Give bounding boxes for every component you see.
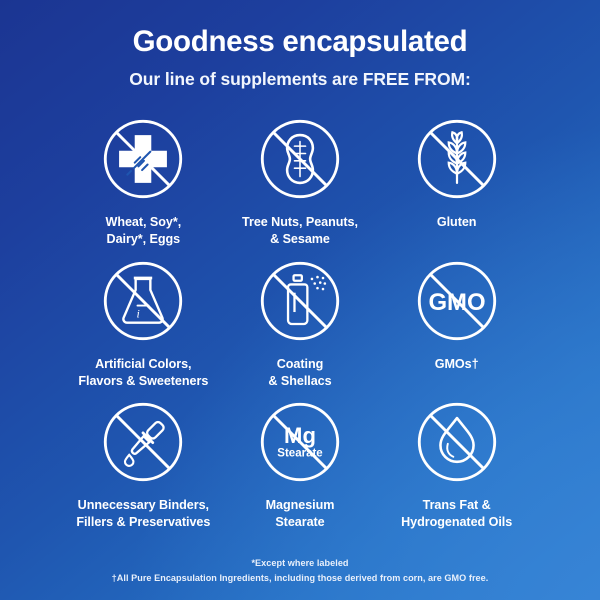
grid-item-trans-fat: Trans Fat & Hydrogenated Oils [378, 396, 535, 530]
peanut-icon [254, 113, 346, 205]
grid-item-unnecessary-binders: Unnecessary Binders, Fillers & Preservat… [65, 396, 222, 530]
grid-item-artificial-colors: i Artificial Colors, Flavors & Sweetener… [65, 255, 222, 389]
grid-item-magnesium-stearate: Mg Stearate Magnesium Stearate [222, 396, 379, 530]
grid-item-label: Unnecessary Binders, Fillers & Preservat… [76, 497, 210, 530]
dropper-icon [97, 396, 189, 488]
header: Goodness encapsulated Our line of supple… [0, 0, 600, 90]
grid-item-label: Gluten [437, 214, 477, 231]
grid-item-tree-nuts-peanuts-sesame: Tree Nuts, Peanuts, & Sesame [222, 113, 379, 247]
grid-item-gluten: Gluten [378, 113, 535, 247]
mg-icon-text: Mg [284, 423, 316, 448]
footer: *Except where labeled †All Pure Encapsul… [0, 556, 600, 586]
gmo-icon-text: GMO [428, 289, 485, 316]
grid-item-label: Magnesium Stearate [266, 497, 335, 530]
grid-item-label: Wheat, Soy*, Dairy*, Eggs [105, 214, 181, 247]
poster: Goodness encapsulated Our line of supple… [0, 0, 600, 600]
grid-item-gmos: GMO GMOs† [378, 255, 535, 389]
flask-icon: i [97, 255, 189, 347]
footer-note-asterisk: *Except where labeled [0, 556, 600, 571]
footer-note-dagger: †All Pure Encapsulation Ingredients, inc… [0, 571, 600, 586]
spray-can-icon [254, 255, 346, 347]
grid-item-label: Trans Fat & Hydrogenated Oils [401, 497, 512, 530]
grid-item-label: Tree Nuts, Peanuts, & Sesame [242, 214, 358, 247]
grid-item-label: Artificial Colors, Flavors & Sweeteners [78, 356, 208, 389]
stearate-icon-subtext: Stearate [277, 448, 322, 460]
oil-droplet-icon [411, 396, 503, 488]
page-title: Goodness encapsulated [0, 26, 600, 58]
grid-item-label: Coating & Shellacs [268, 356, 331, 389]
grid-item-label: GMOs† [435, 356, 479, 373]
page-subtitle: Our line of supplements are FREE FROM: [0, 69, 600, 90]
grid-item-coating-shellacs: Coating & Shellacs [222, 255, 379, 389]
magnesium-stearate-text-icon: Mg Stearate [254, 396, 346, 488]
wheat-soy-dairy-eggs-icon [97, 113, 189, 205]
gmo-text-icon: GMO [411, 255, 503, 347]
wheat-stalk-icon [411, 113, 503, 205]
free-from-grid: Wheat, Soy*, Dairy*, Eggs Tree Nuts, Pea… [65, 113, 535, 530]
svg-text:i: i [137, 306, 140, 320]
grid-item-wheat-soy-dairy-eggs: Wheat, Soy*, Dairy*, Eggs [65, 113, 222, 247]
